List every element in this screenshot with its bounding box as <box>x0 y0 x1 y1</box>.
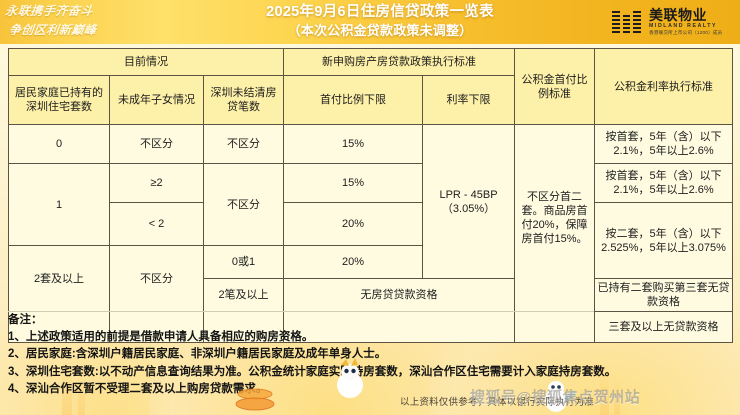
rate-lpr-percent: （3.05%） <box>425 202 512 216</box>
cell-fund-rate-4: 已持有二套购买第三套无贷款资格 <box>595 279 733 312</box>
page-title: 2025年9月6日住房信贷政策一览表 （本次公积金贷款政策未调整） <box>160 3 600 40</box>
brand-text: 美联物业 MIDLAND REALTY 香港联交所上市公司（1200）成员 <box>649 8 722 36</box>
cell-minor-none-2: 不区分 <box>110 246 204 312</box>
header-minor-children: 未成年子女情况 <box>110 76 204 125</box>
notes-heading: 备注： <box>8 312 732 329</box>
header-new-loan-standard: 新申购房产房贷款政策执行标准 <box>284 49 515 76</box>
header-current-situation: 目前情况 <box>9 49 284 76</box>
table-header-row-1: 目前情况 新申购房产房贷款政策执行标准 公积金首付比例标准 公积金利率执行标准 <box>9 49 733 76</box>
header-fund-rate: 公积金利率执行标准 <box>595 49 733 125</box>
slogan-line-2: 争创区利新巅峰 <box>2 21 136 40</box>
cell-fund-rate-1: 按首套，5年（含）以下2.1%，5年以上2.6% <box>595 125 733 164</box>
table-row: < 2 20% 按二套，5年（含）以下2.525%，5年以上3.075% <box>9 203 733 246</box>
policy-table-container: 目前情况 新申购房产房贷款政策执行标准 公积金首付比例标准 公积金利率执行标准 … <box>8 48 732 343</box>
header-banner: 永联携手齐奋斗 争创区利新巅峰 2025年9月6日住房信贷政策一览表 （本次公积… <box>0 0 740 44</box>
cell-downpay-15-b: 15% <box>284 164 423 203</box>
cell-unsettled-2plus: 2笔及以上 <box>204 279 284 312</box>
brand-name-en: MIDLAND REALTY <box>649 24 722 29</box>
policy-infographic: 永联携手齐奋斗 争创区利新巅峰 2025年9月6日住房信贷政策一览表 （本次公积… <box>0 0 740 415</box>
policy-table: 目前情况 新申购房产房贷款政策执行标准 公积金首付比例标准 公积金利率执行标准 … <box>8 48 733 312</box>
cell-owned-0: 0 <box>9 125 110 164</box>
cell-fund-rate-3: 按二套，5年（含）以下2.525%，5年以上3.075% <box>595 203 733 279</box>
cell-downpay-15-a: 15% <box>284 125 423 164</box>
title-sub: （本次公积金贷款政策未调整） <box>160 22 600 40</box>
brand-listing-note: 香港联交所上市公司（1200）成员 <box>649 31 722 36</box>
cell-owned-1: 1 <box>9 164 110 246</box>
company-slogan: 永联携手齐奋斗 争创区利新巅峰 <box>2 2 139 42</box>
note-item-1: 1、上述政策适用的前提是借款申请人具备相应的购房资格。 <box>8 329 732 346</box>
cell-minor-lt2: < 2 <box>110 203 204 246</box>
brand-name-cn: 美联物业 <box>649 8 722 22</box>
cell-fund-downpayment: 不区分首二套。商品房首付20%，保障房首付15%。 <box>515 125 595 312</box>
cell-unsettled-0or1: 0或1 <box>204 246 284 279</box>
cell-minor-none-0: 不区分 <box>110 125 204 164</box>
table-row: 0 不区分 不区分 15% LPR - 45BP （3.05%） 不区分首二套。… <box>9 125 733 164</box>
cell-downpay-20-a: 20% <box>284 203 423 246</box>
header-rate-floor: 利率下限 <box>423 76 515 125</box>
lantern-decoration-icon <box>234 386 276 412</box>
slogan-line-1: 永联携手齐奋斗 <box>4 2 138 21</box>
header-unsettled-loans: 深圳未结清房贷笔数 <box>204 76 284 125</box>
cell-downpay-20-b: 20% <box>284 246 423 279</box>
brand-logo: 美联物业 MIDLAND REALTY 香港联交所上市公司（1200）成员 <box>612 2 736 42</box>
cell-minor-ge2: ≥2 <box>110 164 204 203</box>
table-row: 1 ≥2 不区分 15% 按首套，5年（含）以下2.1%，5年以上2.6% <box>9 164 733 203</box>
header-fund-downpayment: 公积金首付比例标准 <box>515 49 595 125</box>
title-main: 2025年9月6日住房信贷政策一览表 <box>160 3 600 22</box>
midland-m-icon <box>612 9 644 35</box>
header-owned-units: 居民家庭已持有的深圳住宅套数 <box>9 76 110 125</box>
watermark-text: 搜狐号@搜狐焦点贺州站 <box>470 386 640 407</box>
header-downpayment-floor: 首付比例下限 <box>284 76 423 125</box>
cell-rate-lpr: LPR - 45BP （3.05%） <box>423 125 515 279</box>
cell-no-loan-qualification: 无房贷贷款资格 <box>284 279 515 312</box>
cell-unsettled-none-0: 不区分 <box>204 125 284 164</box>
mascot-figure-icon <box>327 355 373 401</box>
cell-owned-2plus: 2套及以上 <box>9 246 110 312</box>
rate-lpr-value: LPR - 45BP <box>425 188 512 202</box>
cell-unsettled-none-1: 不区分 <box>204 164 284 246</box>
cell-fund-rate-2: 按首套，5年（含）以下2.1%，5年以上2.6% <box>595 164 733 203</box>
